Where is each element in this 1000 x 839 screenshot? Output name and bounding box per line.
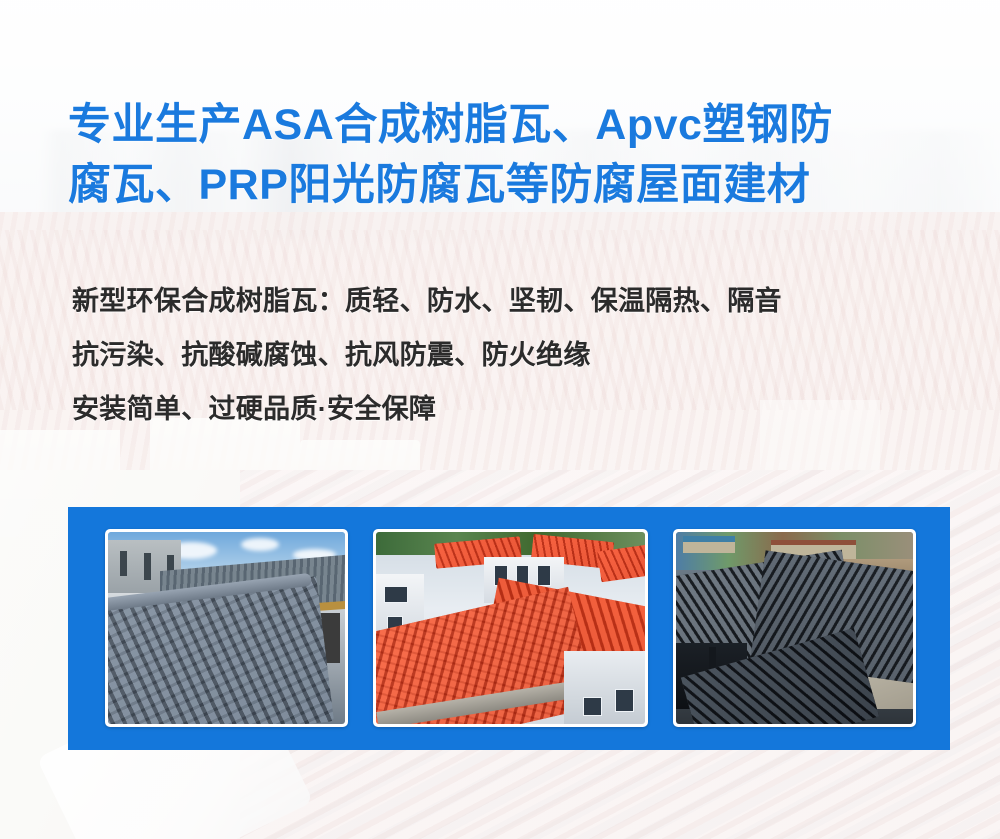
photo1-window-2: [144, 553, 151, 580]
banner-subtitle: 新型环保合成树脂瓦：质轻、防水、坚韧、保温隔热、隔音 抗污染、抗酸碱腐蚀、抗风防…: [72, 274, 962, 436]
photo2-window-6: [615, 689, 634, 712]
photo3-far-roof-1: [683, 536, 735, 542]
photo2-window-7: [583, 697, 602, 716]
photo3-far-roof-2: [771, 540, 856, 546]
photo1-window-1: [120, 551, 127, 576]
gallery-photo-2[interactable]: [373, 529, 648, 727]
gallery-photo-1[interactable]: [105, 529, 348, 727]
subtitle-line-2: 抗污染、抗酸碱腐蚀、抗风防震、防火绝缘: [72, 328, 962, 382]
gallery-photo-3[interactable]: [673, 529, 916, 727]
photo-gallery-row: [105, 529, 916, 727]
photo2-right-building: [564, 651, 645, 724]
subtitle-line-1: 新型环保合成树脂瓦：质轻、防水、坚韧、保温隔热、隔音: [72, 274, 962, 328]
headline-line-2: 腐瓦、PRP阳光防腐瓦等防腐屋面建材: [68, 155, 948, 215]
black-resin-tile-roof-photo: [676, 532, 913, 724]
headline-line-1: 专业生产ASA合成树脂瓦、Apvc塑钢防: [68, 101, 833, 149]
photo-gallery-panel: [68, 507, 950, 750]
red-resin-tile-roof-photo: [376, 532, 645, 724]
product-banner: 专业生产ASA合成树脂瓦、Apvc塑钢防 腐瓦、PRP阳光防腐瓦等防腐屋面建材 …: [0, 0, 1000, 839]
photo1-cloud-2: [241, 538, 279, 551]
photo2-window-4: [384, 586, 408, 603]
subtitle-line-3: 安装简单、过硬品质·安全保障: [72, 382, 962, 436]
banner-headline: 专业生产ASA合成树脂瓦、Apvc塑钢防 腐瓦、PRP阳光防腐瓦等防腐屋面建材: [68, 95, 948, 215]
grey-resin-tile-roof-photo: [108, 532, 345, 724]
photo2-window-3: [537, 565, 550, 586]
